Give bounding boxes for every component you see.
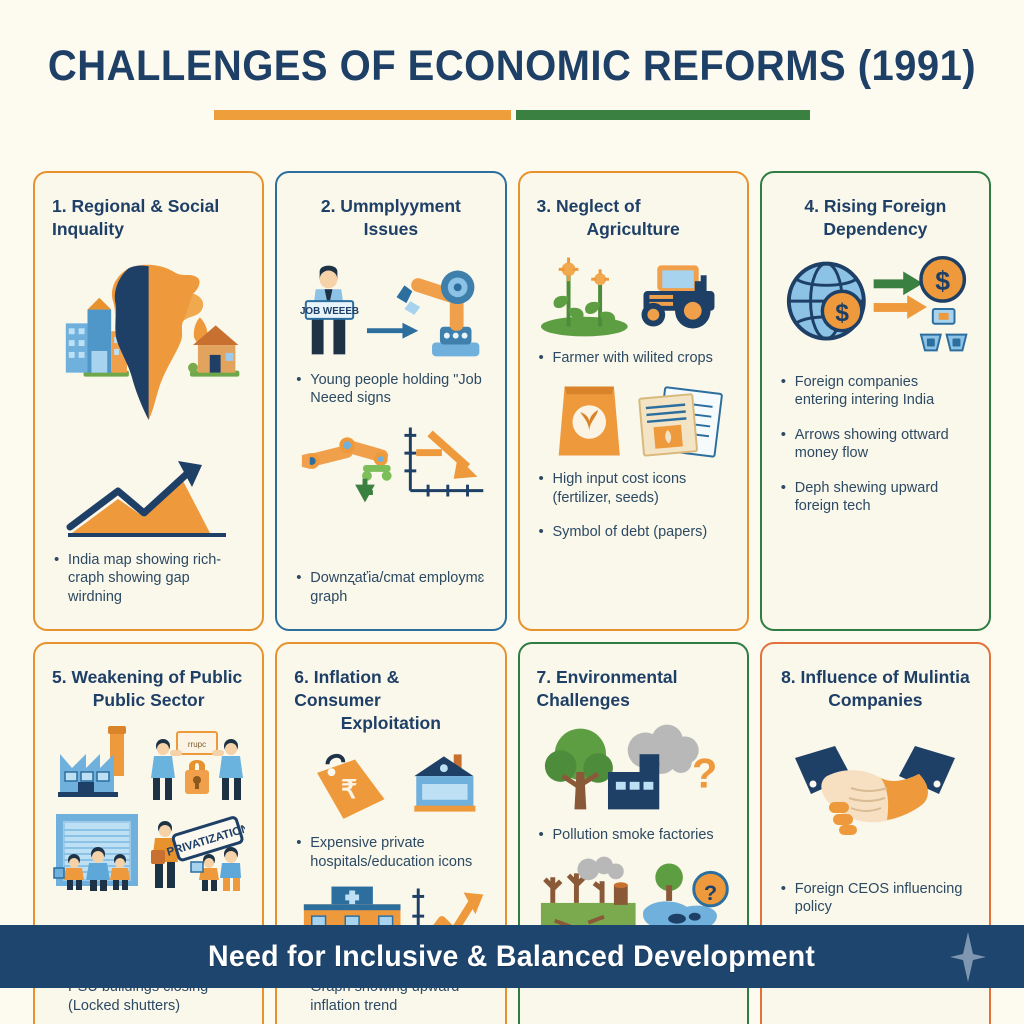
job-sign-text: JOB WEEEB bbox=[300, 305, 359, 316]
card4-artwork: $ $ bbox=[779, 253, 972, 361]
card-rising-foreign-dependency[interactable]: 4. Rising Foreign Dependency bbox=[760, 171, 991, 631]
deforestation-icon bbox=[540, 857, 635, 933]
rising-arrow-chart-icon bbox=[60, 455, 238, 543]
card4-bullets: Foreign companies entering intering Indi… bbox=[779, 373, 972, 525]
factory-icon bbox=[52, 724, 148, 806]
underline-bar-green bbox=[516, 110, 810, 120]
card7-bullets-1: Pollution smoke factories bbox=[537, 826, 730, 854]
fertilizer-and-debt-icon bbox=[537, 378, 730, 462]
person-with-sign-and-robot-icon: JOB WEEEB bbox=[294, 257, 487, 361]
card-title: 1. Regional & Social Inquality bbox=[52, 195, 245, 241]
card-regional-social-inequality[interactable]: 1. Regional & Social Inquality bbox=[33, 171, 264, 631]
price-tag-and-school-icon: ₹ bbox=[294, 742, 487, 826]
card6-artwork-top: ₹ bbox=[294, 742, 487, 826]
card2-spacer bbox=[294, 511, 487, 567]
card6-bullets-1: Expensive private hospitals/education ic… bbox=[294, 834, 487, 880]
card3-bullets-1: Farmer with wilited crops bbox=[537, 349, 730, 377]
footer-banner: Need for Inclusive & Balanced Developmen… bbox=[0, 925, 1024, 988]
tractor-icon bbox=[641, 265, 714, 328]
arrow-right-icon bbox=[367, 322, 418, 338]
card-title: 4. Rising Foreign Dependency bbox=[779, 195, 972, 241]
private-school-icon bbox=[415, 755, 476, 812]
bullet-item: Young people holding "Job Neeed signs bbox=[294, 371, 487, 408]
card3-bullets-2: High input cost icons (fertilizer, seeds… bbox=[537, 470, 730, 551]
card1-bullets: India map showing rich-craph showing gap… bbox=[52, 551, 245, 616]
bullet-item: Farmer with wilited crops bbox=[537, 349, 730, 368]
person-with-sign-icon: JOB WEEEB bbox=[300, 265, 359, 354]
bullet-item: India map showing rich-craph showing gap… bbox=[52, 551, 245, 607]
dollar-symbol: $ bbox=[835, 299, 849, 326]
card-title: 3. Neglect of Agriculture bbox=[537, 195, 730, 241]
card2-artwork-bottom bbox=[294, 419, 487, 505]
rupee-symbol: ₹ bbox=[341, 776, 357, 804]
crops-and-tractor-icon bbox=[537, 253, 730, 337]
card1-artwork bbox=[52, 253, 245, 443]
globe-money-flow-icon: $ $ bbox=[779, 253, 972, 361]
card3-artwork-bottom bbox=[537, 378, 730, 462]
crop-plants-icon bbox=[540, 257, 627, 336]
card5-artwork: rrupc bbox=[52, 724, 245, 892]
smoke-cloud bbox=[627, 724, 698, 773]
challenges-grid: 1. Regional & Social Inquality bbox=[33, 171, 991, 1024]
tree-factory-smoke-icon: ? bbox=[537, 724, 730, 814]
debt-papers-icon bbox=[639, 387, 722, 457]
question-badge-icon: ? bbox=[703, 880, 716, 905]
card-title: 8. Influence of Mulintia Companies bbox=[779, 666, 972, 712]
rupee-price-tag-icon: ₹ bbox=[316, 756, 386, 822]
card-neglect-of-agriculture[interactable]: 3. Neglect of Agriculture bbox=[518, 171, 749, 631]
card3-artwork-top bbox=[537, 253, 730, 337]
dollar-symbol: $ bbox=[935, 266, 950, 296]
lock-icon bbox=[185, 760, 209, 794]
india-map-shape bbox=[112, 264, 207, 419]
polluted-water-icon: ? bbox=[642, 864, 726, 931]
falling-employment-graph-icon bbox=[294, 419, 487, 505]
india-map-composite-icon bbox=[52, 253, 245, 443]
card-title: 7. Environmental Challenges bbox=[537, 666, 730, 712]
header: Challenges of Economic Reforms (1991) bbox=[0, 0, 1024, 120]
bullet-item: Foreign companies entering intering Indi… bbox=[779, 373, 972, 410]
protest-people-lock-icon: rrupc bbox=[149, 724, 245, 806]
handshake-icon bbox=[789, 740, 961, 844]
card-title: 5. Weakening of Public Public Sector bbox=[52, 666, 245, 712]
bullet-item: Expensive private hospitals/education ic… bbox=[294, 834, 487, 871]
privatization-stamp-icon: PRIVATIZATION bbox=[149, 810, 245, 892]
protest-sign-text: rrupc bbox=[188, 740, 206, 749]
closed-shutter-icon bbox=[52, 810, 148, 892]
card7-artwork-top: ? bbox=[537, 724, 730, 814]
card2-bullets-top: Young people holding "Job Neeed signs bbox=[294, 371, 487, 417]
globe-dollar-icon: $ bbox=[789, 263, 864, 338]
card-title: 2. Ummplyyment Issues bbox=[294, 195, 487, 241]
infographic-page: Challenges of Economic Reforms (1991) 1.… bbox=[0, 0, 1024, 1024]
bullet-item: High input cost icons (fertilizer, seeds… bbox=[537, 470, 730, 507]
robot-arm-icon bbox=[397, 270, 480, 356]
fertilizer-bag-icon bbox=[558, 387, 619, 456]
question-mark-icon: ? bbox=[691, 750, 716, 796]
bullet-item: Downʐaťia/cmat employmɛ graph bbox=[294, 569, 487, 606]
bullet-item: Arrows showing ottward money flow bbox=[779, 426, 972, 463]
bullet-item: Symbol of debt (papers) bbox=[537, 523, 730, 542]
card2-bullets-bottom: Downʐaťia/cmat employmɛ graph bbox=[294, 569, 487, 615]
falling-robot-arm-icon bbox=[302, 437, 392, 502]
card8-artwork bbox=[779, 740, 972, 844]
card2-artwork-top: JOB WEEEB bbox=[294, 257, 487, 361]
orange-arrow-right-icon bbox=[873, 295, 926, 319]
tree-icon bbox=[544, 728, 612, 809]
declining-graph-icon bbox=[405, 427, 484, 496]
underline-bar-orange bbox=[214, 110, 511, 120]
card-unemployment-issues[interactable]: 2. Ummplyyment Issues JOB WEEEB bbox=[275, 171, 506, 631]
bullet-item: Pollution smoke factories bbox=[537, 826, 730, 845]
title-underline bbox=[0, 110, 1024, 120]
card-title: 6. Inflation & Consumer Exploitation bbox=[294, 666, 487, 734]
card1-chart-artwork bbox=[52, 455, 245, 543]
sparkle-icon bbox=[950, 932, 986, 982]
dollar-coin-icon: $ bbox=[921, 257, 964, 300]
bullet-item: Deph shewing upward foreign tech bbox=[779, 479, 972, 516]
page-title: Challenges of Economic Reforms (1991) bbox=[36, 42, 988, 91]
green-arrow-right-icon bbox=[873, 271, 922, 295]
locked-device-icon bbox=[921, 308, 966, 349]
bullet-item: Foreign CEOS influencing policy bbox=[779, 880, 972, 917]
footer-title: Need for Inclusive & Balanced Developmen… bbox=[208, 940, 815, 974]
